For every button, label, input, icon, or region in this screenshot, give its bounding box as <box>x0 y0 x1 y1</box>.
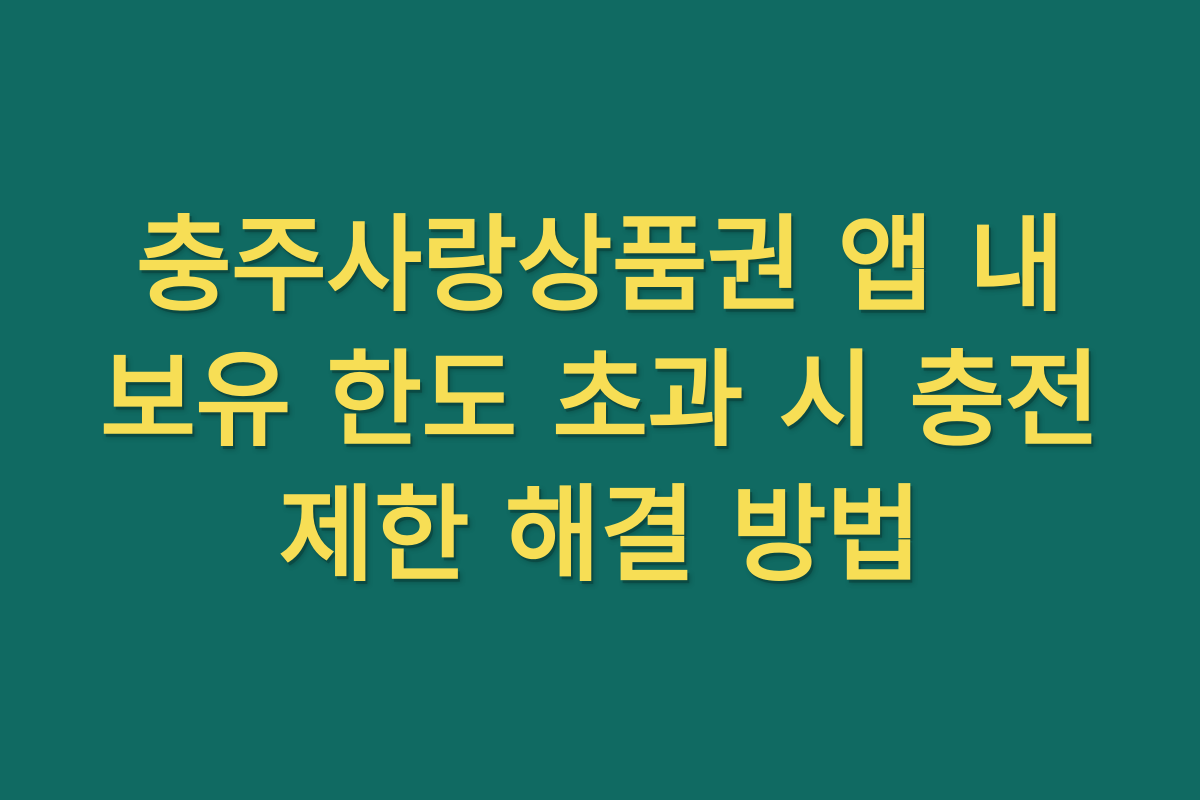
headline-line-3: 제한 해결 방법 <box>40 468 1160 603</box>
headline-line-2: 보유 한도 초과 시 충전 <box>40 333 1160 468</box>
page-title: 충주사랑상품권 앱 내 보유 한도 초과 시 충전 제한 해결 방법 <box>40 198 1160 603</box>
headline-line-1: 충주사랑상품권 앱 내 <box>40 198 1160 333</box>
banner-canvas: 충주사랑상품권 앱 내 보유 한도 초과 시 충전 제한 해결 방법 <box>0 0 1200 800</box>
